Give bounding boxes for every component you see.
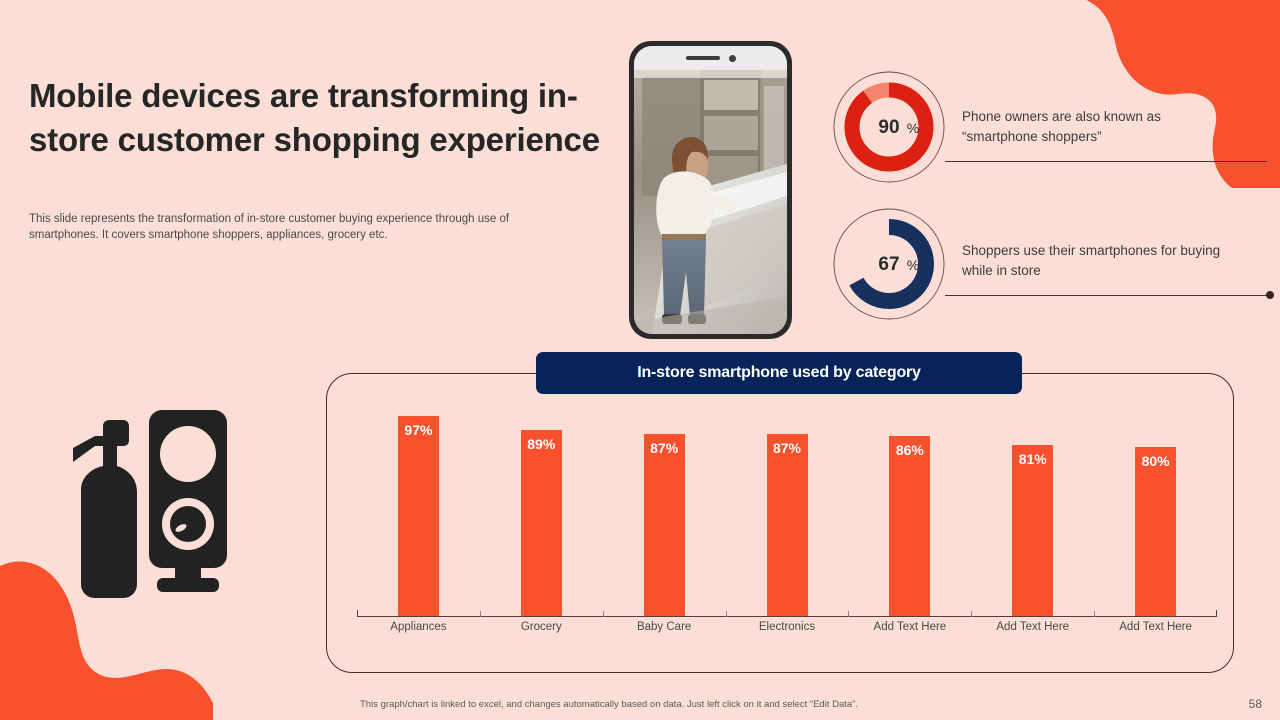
- bar-series: 97%89%87%87%86%81%80%: [357, 410, 1217, 616]
- bar-column[interactable]: 86%: [848, 410, 971, 616]
- bar-value-label: 80%: [1142, 453, 1170, 469]
- axis-tick: [726, 611, 727, 617]
- bar[interactable]: 87%: [644, 434, 685, 616]
- chart-title-badge: In-store smartphone used by category: [536, 352, 1022, 394]
- bar[interactable]: 87%: [767, 434, 808, 616]
- category-label: Appliances: [357, 621, 480, 633]
- stat-rule-67: [945, 295, 1270, 296]
- stat-card-in-store-buying: 67 % Shoppers use their smartphones for …: [833, 208, 1243, 320]
- category-label: Add Text Here: [971, 621, 1094, 633]
- bar-value-label: 87%: [773, 440, 801, 456]
- bar-column[interactable]: 97%: [357, 410, 480, 616]
- donut-chart-67: 67 %: [833, 208, 945, 320]
- donut-unit-90: %: [907, 120, 919, 136]
- store-shopper-photo: [634, 46, 787, 334]
- category-label: Grocery: [480, 621, 603, 633]
- page-number: 58: [1249, 697, 1262, 711]
- bar[interactable]: 86%: [889, 436, 930, 616]
- axis-tick: [971, 611, 972, 617]
- donut-chart-90: 90 %: [833, 71, 945, 183]
- page-subtitle: This slide represents the transformation…: [29, 211, 545, 243]
- axis-tick: [848, 611, 849, 617]
- phone-speaker-icon: [686, 56, 720, 60]
- bar-value-label: 86%: [896, 442, 924, 458]
- bar-column[interactable]: 81%: [971, 410, 1094, 616]
- donut-unit-67: %: [907, 257, 919, 273]
- category-label: Baby Care: [603, 621, 726, 633]
- phone-top-bar: [634, 46, 787, 70]
- stat-card-smartphone-shoppers: 90 % Phone owners are also known as “sma…: [833, 71, 1233, 183]
- donut-value-67: 67: [878, 254, 899, 275]
- slide-canvas: Mobile devices are transforming in-store…: [0, 0, 1280, 720]
- bar-column[interactable]: 87%: [726, 410, 849, 616]
- bar-column[interactable]: 89%: [480, 410, 603, 616]
- bar-value-label: 81%: [1019, 451, 1047, 467]
- bar-value-label: 89%: [527, 436, 555, 452]
- phone-camera-icon: [729, 55, 736, 62]
- category-label: Electronics: [726, 621, 849, 633]
- x-axis-category-labels: AppliancesGroceryBaby CareElectronicsAdd…: [357, 621, 1217, 633]
- axis-tick: [603, 611, 604, 617]
- axis-tick: [1094, 611, 1095, 617]
- category-label: Add Text Here: [1094, 621, 1217, 633]
- bar-value-label: 97%: [404, 422, 432, 438]
- category-label: Add Text Here: [848, 621, 971, 633]
- bar[interactable]: 80%: [1135, 447, 1176, 616]
- bar[interactable]: 89%: [521, 430, 562, 616]
- bar-column[interactable]: 87%: [603, 410, 726, 616]
- stat-rule-90: [945, 161, 1267, 162]
- x-axis-cap-right: [1216, 610, 1217, 617]
- bar[interactable]: 81%: [1012, 445, 1053, 616]
- x-axis-line: [357, 616, 1217, 617]
- bar-value-label: 87%: [650, 440, 678, 456]
- bar-chart-plot-area: 97%89%87%87%86%81%80%: [357, 410, 1217, 616]
- x-axis-cap-left: [357, 610, 358, 617]
- stat-endpoint-dot: [1266, 291, 1274, 299]
- donut-value-90: 90: [878, 117, 899, 138]
- footer-note: This graph/chart is linked to excel, and…: [360, 699, 858, 710]
- phone-mockup: [629, 41, 792, 339]
- bar[interactable]: 97%: [398, 416, 439, 616]
- axis-tick: [480, 611, 481, 617]
- page-title: Mobile devices are transforming in-store…: [29, 74, 629, 162]
- bar-column[interactable]: 80%: [1094, 410, 1217, 616]
- spray-bottle-and-appliance-icon: [57, 396, 233, 608]
- stat-text-67: Shoppers use their smartphones for buyin…: [962, 241, 1252, 281]
- phone-screen: [634, 46, 787, 334]
- stat-text-90: Phone owners are also known as “smartpho…: [962, 107, 1232, 147]
